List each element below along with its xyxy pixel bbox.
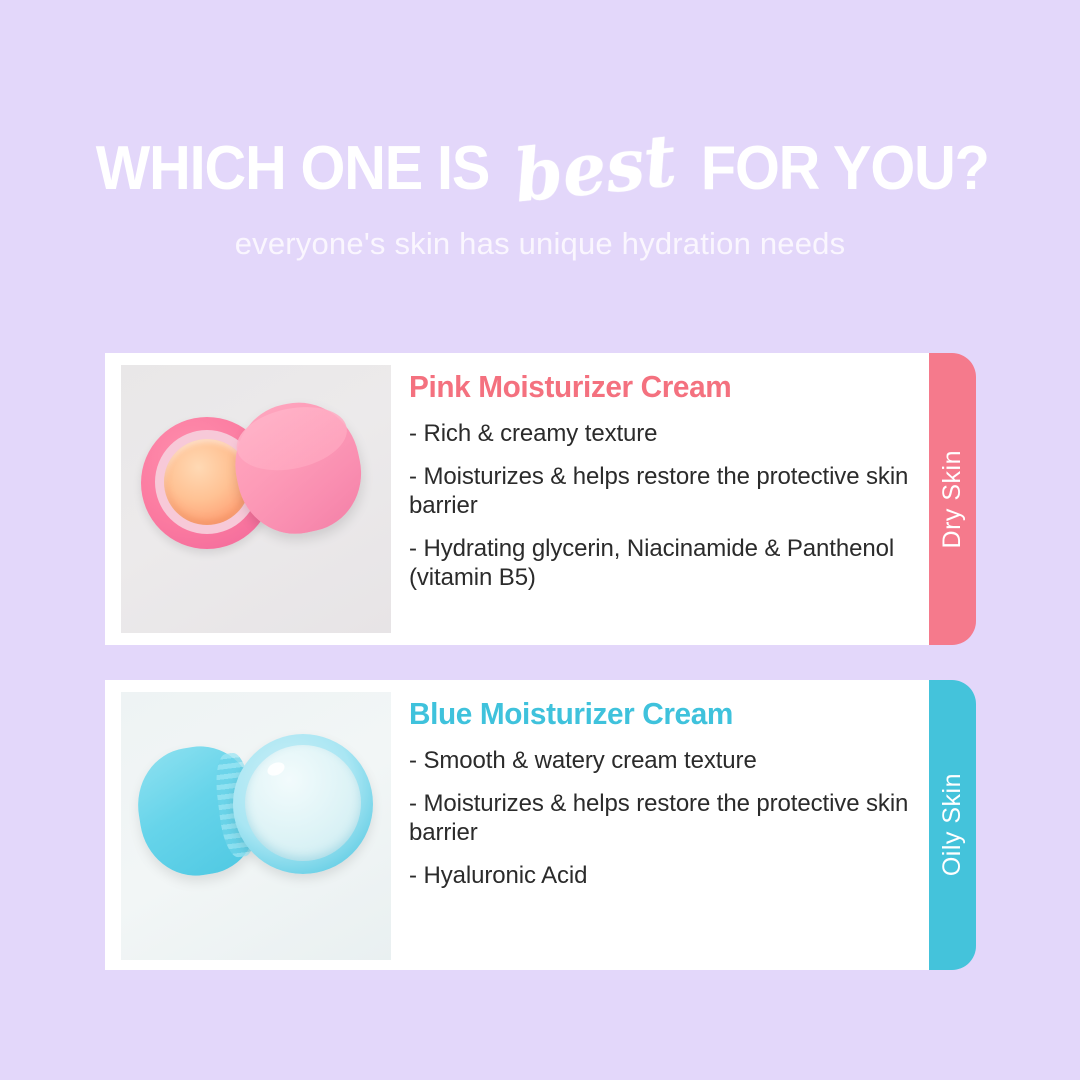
card-body-blue: Blue Moisturizer Cream - Smooth & watery… <box>391 680 929 890</box>
product-title-blue: Blue Moisturizer Cream <box>409 696 891 732</box>
product-bullet: - Smooth & watery cream texture <box>409 746 911 775</box>
page-subtitle: everyone's skin has unique hydration nee… <box>0 226 1080 262</box>
product-bullet: - Moisturizes & helps restore the protec… <box>409 789 911 847</box>
product-bullet: - Hyaluronic Acid <box>409 861 911 890</box>
product-photo-blue <box>121 692 391 960</box>
headline-part-2: FOR YOU? <box>701 138 989 200</box>
product-card-blue[interactable]: Blue Moisturizer Cream - Smooth & watery… <box>105 680 929 970</box>
blue-cream-surface <box>245 745 361 861</box>
skin-type-tab-label: Oily Skin <box>938 773 967 876</box>
product-bullet: - Rich & creamy texture <box>409 419 911 448</box>
blue-jar-base-icon <box>233 734 373 874</box>
infographic-canvas: WHICH ONE IS best FOR YOU? everyone's sk… <box>0 0 1080 1080</box>
product-bullet: - Moisturizes & helps restore the protec… <box>409 462 911 520</box>
product-photo-pink <box>121 365 391 633</box>
blue-cream-highlight <box>265 760 286 778</box>
skin-type-tab-label: Dry Skin <box>938 450 967 548</box>
headline-script-word: best <box>511 124 679 212</box>
page-title: WHICH ONE IS best FOR YOU? <box>0 128 1080 200</box>
product-title-pink: Pink Moisturizer Cream <box>409 369 891 405</box>
product-bullet: - Hydrating glycerin, Niacinamide & Pant… <box>409 534 911 592</box>
skin-type-tab-dry[interactable]: Dry Skin <box>929 353 976 645</box>
skin-type-tab-oily[interactable]: Oily Skin <box>929 680 976 970</box>
product-card-pink[interactable]: Pink Moisturizer Cream - Rich & creamy t… <box>105 353 929 645</box>
header: WHICH ONE IS best FOR YOU? everyone's sk… <box>0 128 1080 262</box>
card-body-pink: Pink Moisturizer Cream - Rich & creamy t… <box>391 353 929 592</box>
headline-part-1: WHICH ONE IS <box>95 138 488 200</box>
